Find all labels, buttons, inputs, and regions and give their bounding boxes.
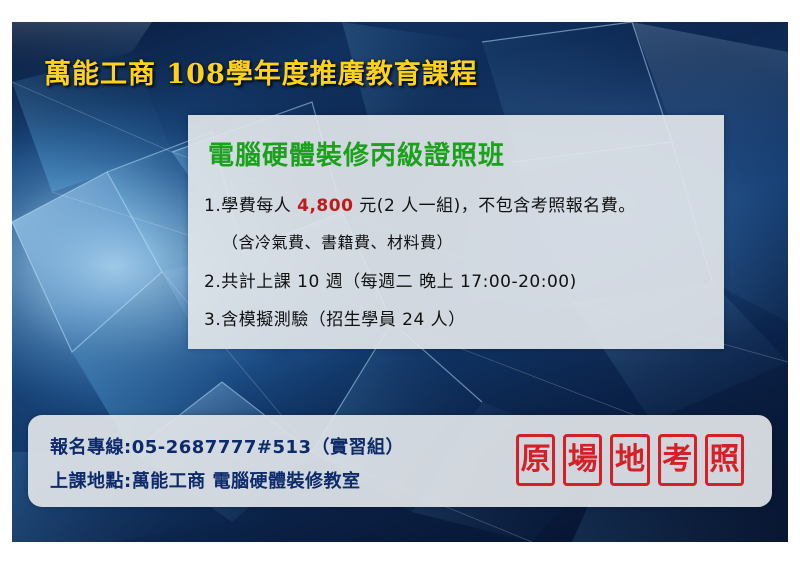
course-detail-line-1: 1.學費每人 4,800 元(2 人一組)，不包含考照報名費。 — [204, 191, 636, 216]
fee-amount: 4,800 — [297, 196, 353, 216]
seal-char-4: 考 — [658, 434, 697, 486]
seal-char-2: 場 — [563, 434, 602, 486]
course-detail-line-3: 2.共計上課 10 週（每週二 晚上 17:00-20:00) — [204, 267, 577, 292]
page-title: 萬能工商 108學年度推廣教育課程 — [44, 52, 478, 91]
poster: 萬能工商 108學年度推廣教育課程 電腦硬體裝修丙級證照班 1.學費每人 4,8… — [0, 0, 800, 566]
course-heading: 電腦硬體裝修丙級證照班 — [208, 135, 505, 172]
course-detail-line-4: 3.含模擬測驗（招生學員 24 人） — [204, 305, 466, 330]
contact-bar: 報名專線:05-2687777#513（實習組） 上課地點:萬能工商 電腦硬體裝… — [28, 415, 772, 507]
contact-location-line: 上課地點:萬能工商 電腦硬體裝修教室 — [50, 467, 360, 493]
course-detail-line-2: （含冷氣費、書籍費、材料費） — [222, 229, 453, 253]
seal-char-1: 原 — [516, 434, 555, 486]
seal-char-3: 地 — [610, 434, 649, 486]
fee-line-prefix: 1.學費每人 — [204, 196, 297, 216]
contact-phone-line: 報名專線:05-2687777#513（實習組） — [50, 433, 404, 459]
exam-venue-seal: 原 場 地 考 照 — [516, 429, 744, 491]
course-info-card: 電腦硬體裝修丙級證照班 1.學費每人 4,800 元(2 人一組)，不包含考照報… — [188, 115, 724, 349]
fee-line-suffix: 元(2 人一組)，不包含考照報名費。 — [353, 196, 635, 216]
seal-char-5: 照 — [705, 434, 744, 486]
